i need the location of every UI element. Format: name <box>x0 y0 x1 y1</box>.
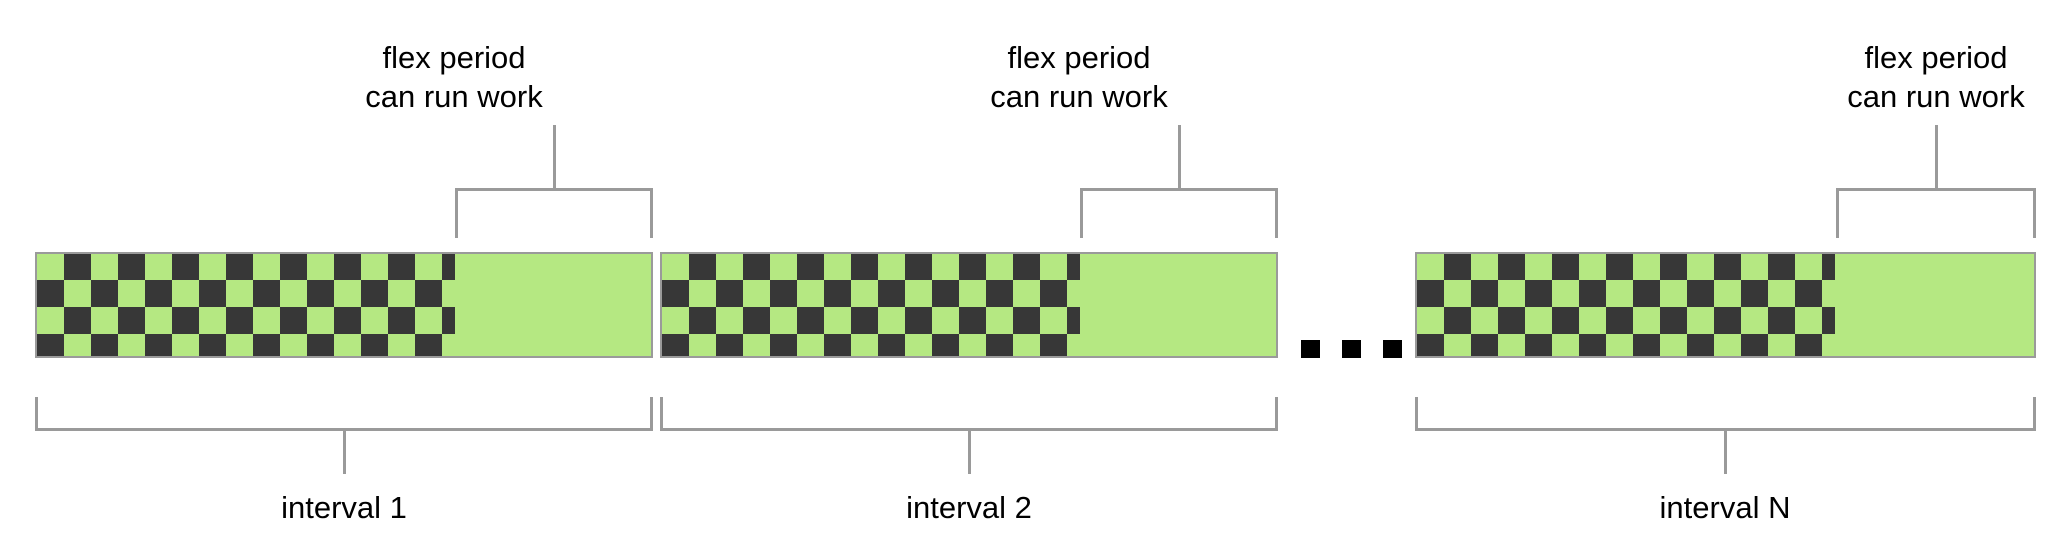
flex-period-stem-1 <box>553 125 556 189</box>
ellipsis-dot-3 <box>1383 340 1402 358</box>
interval-label-stem-2 <box>968 430 971 474</box>
flex-period-bracket-2 <box>1080 188 1278 238</box>
work-checker-pattern-2 <box>662 254 1080 356</box>
interval-label-2: interval 2 <box>819 490 1119 526</box>
ellipsis-dot-2 <box>1342 340 1361 358</box>
interval-bracket-1 <box>35 397 653 431</box>
interval-bar-2 <box>660 252 1278 358</box>
interval-label-1: interval 1 <box>194 490 494 526</box>
flex-period-region-1 <box>455 254 651 356</box>
flex-period-stem-n <box>1935 125 1938 189</box>
flex-period-region-2 <box>1080 254 1276 356</box>
flex-period-bracket-1 <box>455 188 653 238</box>
flex-period-stem-2 <box>1178 125 1181 189</box>
interval-bracket-n <box>1415 397 2036 431</box>
interval-label-stem-1 <box>343 430 346 474</box>
ellipsis-dot-1 <box>1301 340 1320 358</box>
work-checker-pattern-1 <box>37 254 455 356</box>
interval-bracket-2 <box>660 397 1278 431</box>
flex-period-label-n-line2: can run work <box>1836 77 2036 116</box>
flex-period-label-1-line2: can run work <box>354 77 554 116</box>
interval-bar-n <box>1415 252 2036 358</box>
flex-period-label-n: flex period can run work <box>1836 38 2036 116</box>
flex-period-label-2-line2: can run work <box>979 77 1179 116</box>
interval-label-n: interval N <box>1575 490 1875 526</box>
flex-period-label-1: flex period can run work <box>354 38 554 116</box>
flex-period-region-n <box>1835 254 2034 356</box>
interval-bar-1 <box>35 252 653 358</box>
diagram-canvas: flex period can run work interval 1 flex… <box>0 0 2070 552</box>
interval-label-stem-n <box>1724 430 1727 474</box>
flex-period-bracket-n <box>1836 188 2036 238</box>
flex-period-label-n-line1: flex period <box>1864 40 2007 75</box>
flex-period-label-2: flex period can run work <box>979 38 1179 116</box>
flex-period-label-1-line1: flex period <box>382 40 525 75</box>
work-checker-pattern-n <box>1417 254 1835 356</box>
flex-period-label-2-line1: flex period <box>1007 40 1150 75</box>
